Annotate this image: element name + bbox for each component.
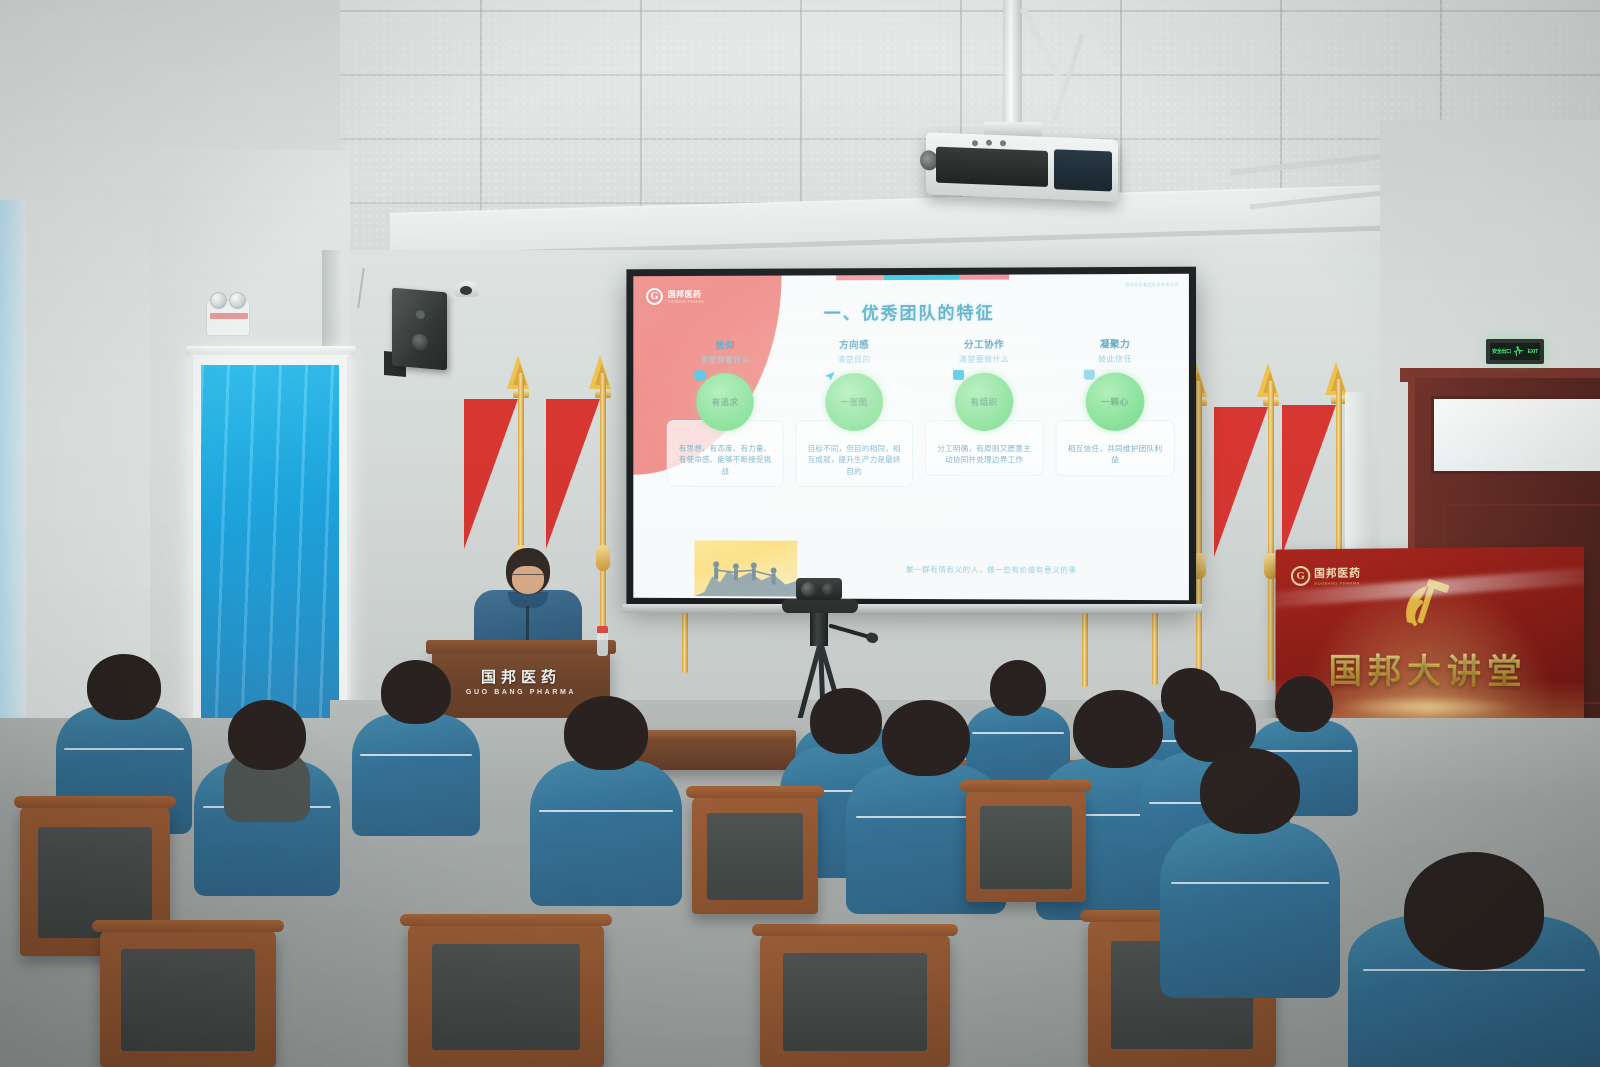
slide-tagline: 聚一群有情有义的人，做一些有价值有意义的事 xyxy=(811,564,1172,576)
audience-member xyxy=(194,700,340,896)
thumbs-up-icon xyxy=(1084,370,1095,380)
uniform-piping xyxy=(1171,882,1329,884)
audience-member xyxy=(1160,748,1340,998)
ptz-camera xyxy=(796,578,842,600)
briefcase-icon xyxy=(694,370,705,380)
projector-button-c xyxy=(1000,140,1006,146)
slide-title: 一、优秀团队的特征 xyxy=(633,298,1189,325)
tripod-neck xyxy=(810,612,828,646)
slide-top-color-bars xyxy=(836,275,1009,281)
slide-header-note: 国邦医药集团股份有限公司 xyxy=(1125,283,1178,288)
screen-bottom-rail xyxy=(622,604,1202,613)
running-person-icon xyxy=(1513,345,1525,358)
projector-button-a xyxy=(972,140,978,146)
column-heading: 方向感 xyxy=(795,337,913,351)
exit-sign-cn: 安全出口 xyxy=(1492,348,1511,355)
water-bottle xyxy=(597,626,608,656)
speaker-woofer xyxy=(412,333,428,350)
left-window-edge xyxy=(0,200,26,760)
camera-lens xyxy=(801,582,816,597)
uniform-piping xyxy=(539,810,673,812)
podium-top-surface xyxy=(426,640,616,654)
chair-arm xyxy=(686,786,824,798)
paper-plane-icon xyxy=(823,370,834,380)
uniform-piping xyxy=(360,754,473,756)
chair-arm xyxy=(960,780,1092,792)
chair[interactable] xyxy=(760,934,950,1067)
chair[interactable] xyxy=(100,930,276,1067)
top-bar-pink-left xyxy=(836,275,884,280)
exit-sign-en: EXIT xyxy=(1528,349,1538,355)
person-uniform xyxy=(530,760,682,906)
slide-column: 凝聚力 彼此信任 一颗心 相互信任，共同维护团队利益 xyxy=(1055,336,1174,487)
column-subheading: 清楚要做什么 xyxy=(925,354,1043,365)
lecture-hall-photo: G 国邦医药 GUOBANG PHARMA 国邦医药集团股份有限公司 一、优秀团… xyxy=(0,0,1600,1067)
blue-curtain xyxy=(201,365,339,749)
exit-sign: 安全出口 EXIT xyxy=(1486,339,1544,364)
top-bar-pink-right xyxy=(959,275,1009,280)
column-heading: 信仰 xyxy=(667,337,784,351)
audience-member xyxy=(530,696,682,906)
banner-logo: G 国邦医药 GUOBANG PHARMA xyxy=(1291,565,1361,586)
tripod-head xyxy=(782,599,858,613)
column-subheading: 清楚目的 xyxy=(795,354,913,365)
banner-logo-mark: G xyxy=(1291,566,1310,586)
chair-arm xyxy=(92,920,284,932)
emergency-light-label xyxy=(210,313,248,319)
column-circle-label: 有追求 xyxy=(667,396,784,408)
banner-glow xyxy=(1335,695,1520,718)
uniform-piping xyxy=(64,748,184,750)
audience-member-foreground xyxy=(1348,852,1600,1067)
person-head xyxy=(1200,748,1300,834)
chair-arm xyxy=(14,796,176,808)
column-circle-label: 一颗心 xyxy=(1055,396,1174,408)
person-head xyxy=(228,700,306,770)
projector-pole xyxy=(1003,0,1022,126)
chair-arm xyxy=(752,924,958,936)
audience-member xyxy=(352,660,480,836)
person-head xyxy=(564,696,648,770)
column-heading: 凝聚力 xyxy=(1055,336,1174,350)
camera-lens-secondary xyxy=(822,583,835,596)
person-head xyxy=(381,660,451,724)
door-transom-window xyxy=(1431,396,1600,474)
person-head xyxy=(1404,852,1544,970)
dome-camera-lens xyxy=(460,286,472,295)
projection-screen-frame: G 国邦医药 GUOBANG PHARMA 国邦医药集团股份有限公司 一、优秀团… xyxy=(626,267,1196,608)
emergency-light xyxy=(206,300,250,336)
person-head xyxy=(882,700,970,776)
projector-top-panel xyxy=(936,147,1048,187)
person-head xyxy=(87,654,161,720)
chair[interactable] xyxy=(408,924,604,1067)
projector-ports xyxy=(1054,149,1112,191)
chair[interactable] xyxy=(692,796,818,914)
column-subheading: 清楚想要什么 xyxy=(667,354,784,365)
person-uniform xyxy=(1160,822,1340,998)
wall-pipe xyxy=(1345,392,1371,562)
banner-logo-cn: 国邦医药 xyxy=(1314,565,1361,581)
top-bar-cyan xyxy=(884,275,959,280)
window xyxy=(190,352,350,752)
emergency-lamp-right xyxy=(229,292,246,309)
speaker-tweeter xyxy=(416,310,425,320)
column-subheading: 彼此信任 xyxy=(1055,353,1174,364)
projector-button-b xyxy=(986,140,992,146)
column-circle-label: 一张图 xyxy=(795,396,913,408)
chair[interactable] xyxy=(966,790,1086,902)
emergency-lamp-left xyxy=(210,292,227,309)
chair-arm xyxy=(400,914,612,926)
slide-column: 分工协作 清楚要做什么 有组织 分工明确，有原则又愿意主动协同并处理边界工作 xyxy=(925,337,1043,488)
presentation-slide: G 国邦医药 GUOBANG PHARMA 国邦医药集团股份有限公司 一、优秀团… xyxy=(633,274,1189,600)
projection-screen: G 国邦医药 GUOBANG PHARMA 国邦医药集团股份有限公司 一、优秀团… xyxy=(633,274,1189,600)
slide-logo-cn: 国邦医药 xyxy=(668,289,705,300)
slide-column: 方向感 清楚目的 一张图 目标不同，但目的相同，相互成就，提升生产力是最终目的 xyxy=(795,337,913,487)
person-uniform xyxy=(352,714,480,836)
column-heading: 分工协作 xyxy=(925,337,1043,351)
slide-columns: 信仰 清楚想要什么 有追求 有思想、有态度、有力量、有使命感、能够不断接受挑战 … xyxy=(667,336,1175,487)
wall-speaker xyxy=(392,288,447,371)
briefcase-icon xyxy=(953,370,964,380)
presenter-face xyxy=(512,566,544,594)
slide-column: 信仰 清楚想要什么 有追求 有思想、有态度、有力量、有使命感、能够不断接受挑战 xyxy=(667,337,784,487)
ceiling-projector xyxy=(926,132,1118,201)
column-circle-label: 有组织 xyxy=(925,396,1043,408)
glasses-icon xyxy=(512,574,544,580)
